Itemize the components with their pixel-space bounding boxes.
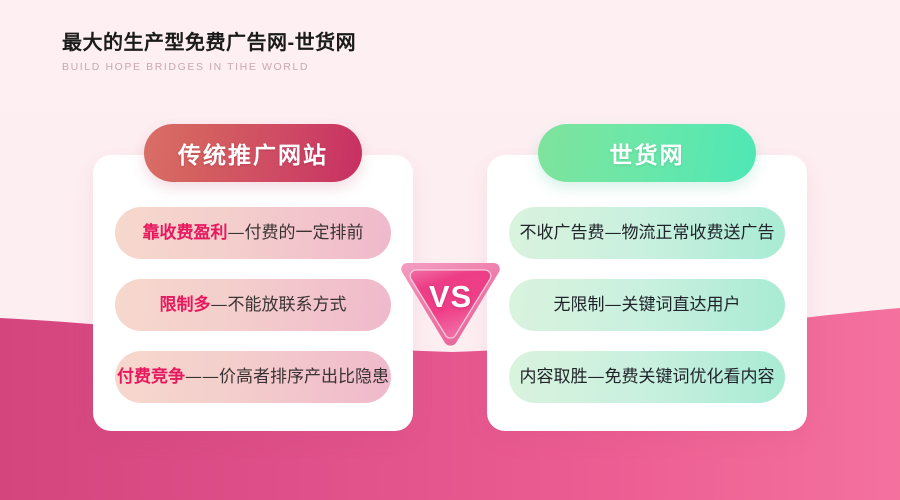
poster-canvas: 最大的生产型免费广告网-世货网 BUILD HOPE BRIDGES IN TI…: [0, 0, 900, 500]
list-item-text: 无限制—关键词直达用户: [554, 295, 741, 315]
list-item[interactable]: 限制多—不能放联系方式: [115, 279, 391, 331]
list-item-text: 不收广告费—物流正常收费送广告: [520, 223, 775, 243]
column-header-right[interactable]: 世货网: [538, 124, 756, 182]
list-item-rest: 内容取胜—免费关键词优化看内容: [520, 367, 775, 387]
list-item-rest: —不能放联系方式: [211, 295, 347, 315]
list-item-rest: 不收广告费—物流正常收费送广告: [520, 223, 775, 243]
card-left: 靠收费盈利—付费的一定排前 限制多—不能放联系方式 付费竞争——价高者排序产出比…: [93, 155, 413, 431]
page-title: 最大的生产型免费广告网-世货网: [62, 30, 356, 56]
comparison-column-right: 世货网 不收广告费—物流正常收费送广告 无限制—关键词直达用户 内容取胜—免费关…: [487, 124, 807, 431]
vs-badge: VS: [399, 259, 502, 351]
list-item[interactable]: 内容取胜—免费关键词优化看内容: [509, 351, 785, 403]
list-item-text: 付费竞争——价高者排序产出比隐患: [117, 367, 389, 387]
list-item-rest: —付费的一定排前: [228, 223, 364, 243]
card-right: 不收广告费—物流正常收费送广告 无限制—关键词直达用户 内容取胜—免费关键词优化…: [487, 155, 807, 431]
list-item-highlight: 付费竞争: [117, 367, 185, 387]
list-item-text: 靠收费盈利—付费的一定排前: [143, 223, 364, 243]
list-item-highlight: 限制多: [160, 295, 211, 315]
vs-triangle-icon: [399, 259, 502, 351]
column-header-right-label: 世货网: [610, 136, 685, 170]
list-item-highlight: 靠收费盈利: [143, 223, 228, 243]
list-item[interactable]: 不收广告费—物流正常收费送广告: [509, 207, 785, 259]
poster-header: 最大的生产型免费广告网-世货网 BUILD HOPE BRIDGES IN TI…: [62, 30, 356, 74]
list-item-text: 内容取胜—免费关键词优化看内容: [520, 367, 775, 387]
comparison-column-left: 传统推广网站 靠收费盈利—付费的一定排前 限制多—不能放联系方式 付费竞争——价…: [93, 124, 413, 431]
list-item[interactable]: 付费竞争——价高者排序产出比隐患: [115, 351, 391, 403]
list-item-rest: 无限制—关键词直达用户: [554, 295, 741, 315]
page-subtitle: BUILD HOPE BRIDGES IN TIHE WORLD: [62, 60, 356, 74]
list-item-text: 限制多—不能放联系方式: [160, 295, 347, 315]
column-header-left[interactable]: 传统推广网站: [144, 124, 362, 182]
column-header-left-label: 传统推广网站: [178, 136, 328, 170]
list-item-rest: ——价高者排序产出比隐患: [185, 367, 389, 387]
list-item[interactable]: 靠收费盈利—付费的一定排前: [115, 207, 391, 259]
list-item[interactable]: 无限制—关键词直达用户: [509, 279, 785, 331]
